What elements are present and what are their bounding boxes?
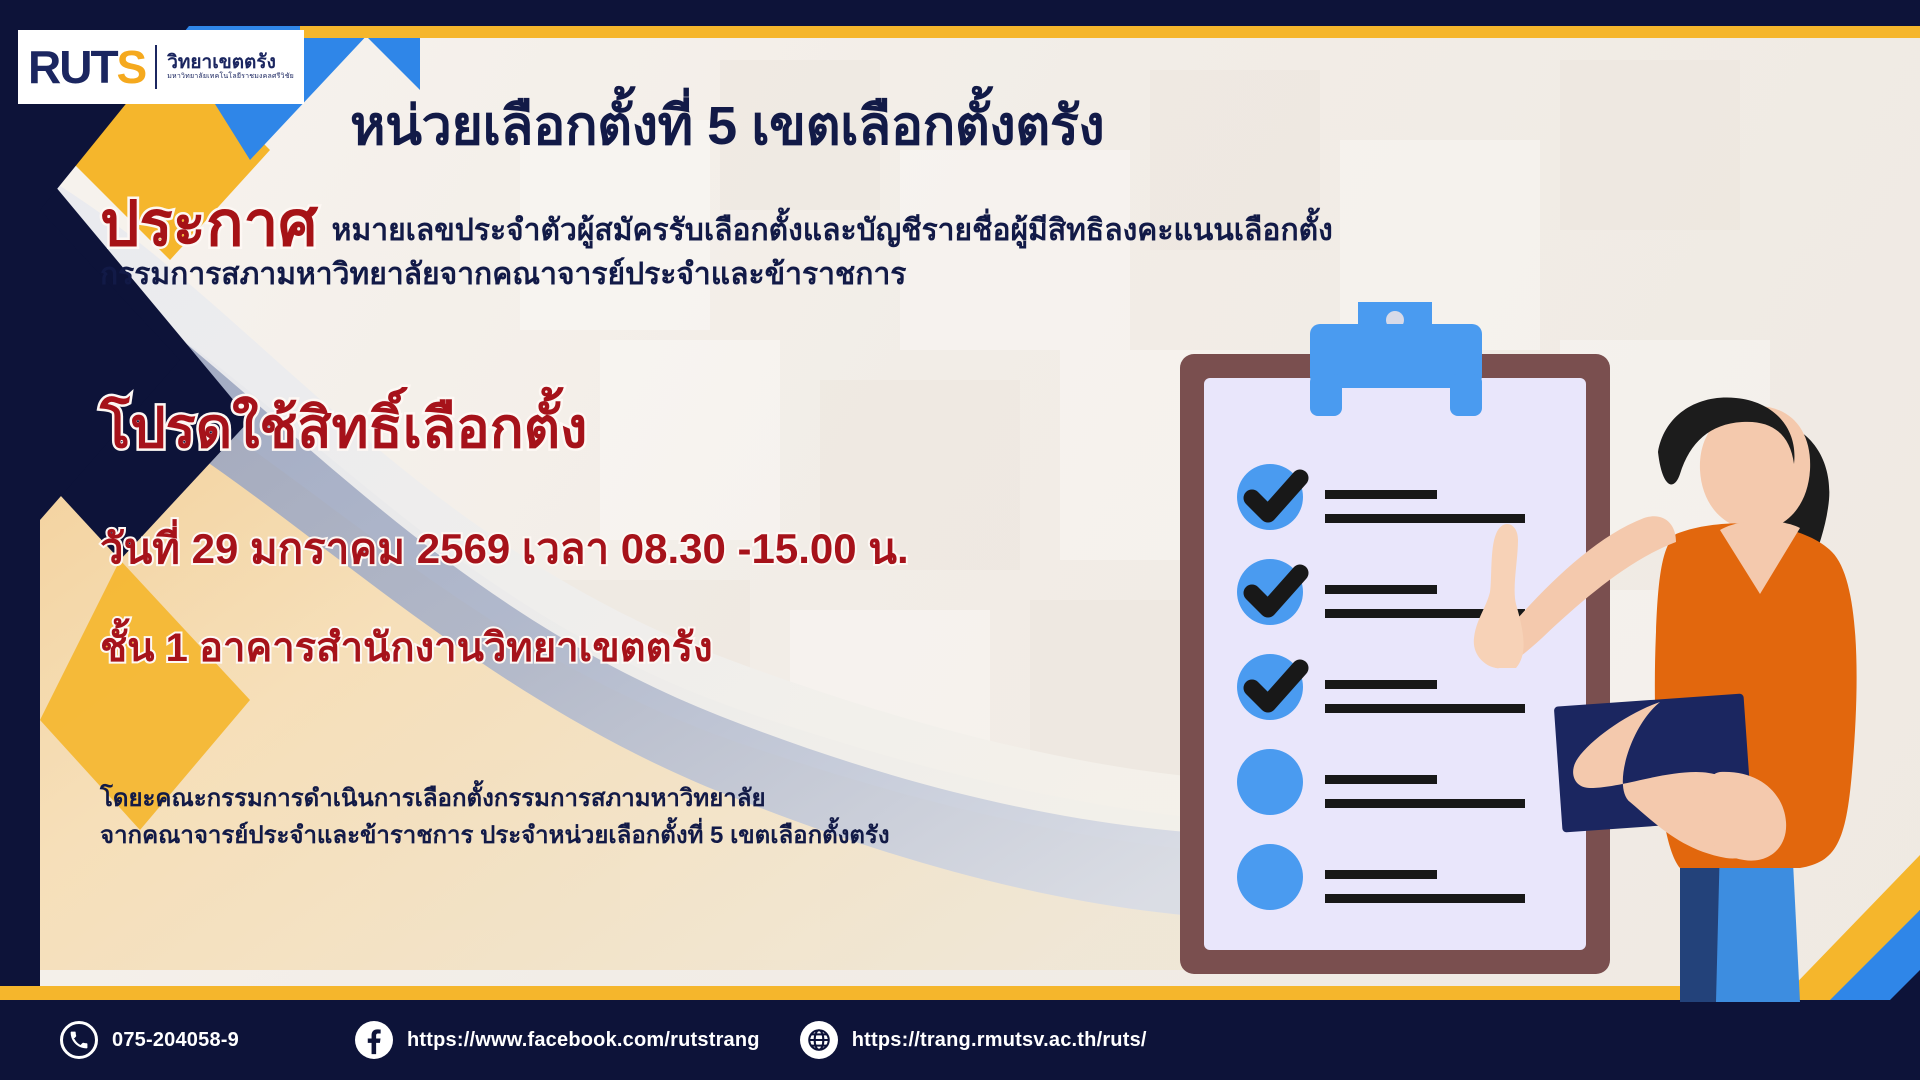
facebook-icon [355, 1021, 393, 1059]
checkbox-circle [1237, 844, 1303, 910]
organizer-byline-line1: โดยะคณะกรรมการดำเนินการเลือกตั้งกรรมการส… [100, 780, 890, 817]
event-location: ชั้น 1 อาคารสำนักงานวิทยาเขตตรัง [100, 628, 713, 668]
call-to-action: โปรดใช้สิทธิ์เลือกตั้ง [100, 400, 587, 456]
logo-wordmark-navy: RUT [28, 41, 117, 93]
announcement-subtitle: หมายเลขประจำตัวผู้สมัครรับเลือกตั้งและบั… [332, 214, 1333, 255]
footer-facebook-text: https://www.facebook.com/rutstrang [407, 1029, 760, 1052]
top-gold-bar [300, 26, 1920, 38]
globe-icon [800, 1021, 838, 1059]
footer-phone[interactable]: 075-204058-9 [60, 1021, 239, 1059]
organizer-byline: โดยะคณะกรรมการดำเนินการเลือกตั้งกรรมการส… [100, 780, 890, 854]
top-navy-bar [0, 0, 1920, 26]
footer-website-text: https://trang.rmutsv.ac.th/ruts/ [852, 1029, 1147, 1052]
logo-thai-campus: วิทยาเขตตรัง [167, 53, 294, 73]
phone-icon [60, 1021, 98, 1059]
logo-thai-block: วิทยาเขตตรัง มหาวิทยาลัยเทคโนโลยีราชมงคล… [167, 53, 294, 81]
announcement-keyword: ประกาศ [100, 196, 318, 255]
checkbox-circle [1237, 749, 1303, 815]
event-datetime: วันที่ 29 มกราคม 2569 เวลา 08.30 -15.00 … [100, 528, 909, 570]
logo-wordmark: RUTS [28, 44, 145, 90]
poster-canvas: RUTS วิทยาเขตตรัง มหาวิทยาลัยเทคโนโลยีรา… [0, 0, 1920, 1080]
footer-phone-text: 075-204058-9 [112, 1029, 239, 1052]
ruts-logo-card: RUTS วิทยาเขตตรัง มหาวิทยาลัยเทคโนโลยีรา… [18, 30, 304, 104]
logo-thai-university: มหาวิทยาลัยเทคโนโลยีราชมงคลศรีวิชัย [167, 73, 294, 81]
footer-website[interactable]: https://trang.rmutsv.ac.th/ruts/ [800, 1021, 1147, 1059]
announcement-subtitle-line2: กรรมการสภามหาวิทยาลัยจากคณาจารย์ประจำและ… [100, 258, 906, 291]
logo-divider [155, 45, 157, 89]
page-title: หน่วยเลือกตั้งที่ 5 เขตเลือกตั้งตรัง [350, 98, 1510, 155]
footer-facebook[interactable]: https://www.facebook.com/rutstrang [355, 1021, 760, 1059]
announcement-row: ประกาศ หมายเลขประจำตัวผู้สมัครรับเลือกตั… [100, 196, 1420, 255]
organizer-byline-line2: จากคณาจารย์ประจำและข้าราชการ ประจำหน่วยเ… [100, 817, 890, 854]
footer-contact-bar: 075-204058-9 https://www.facebook.com/ru… [0, 1000, 1920, 1080]
checklist-illustration [1160, 302, 1920, 1002]
logo-wordmark-orange: S [117, 41, 146, 93]
